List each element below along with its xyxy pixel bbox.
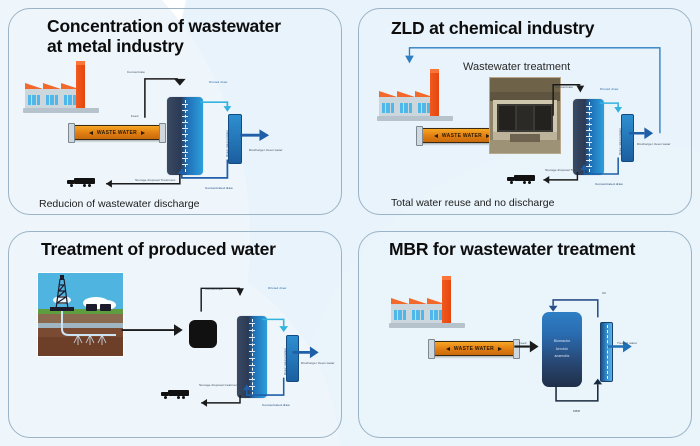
label-treated-water: Treated water — [617, 342, 637, 346]
factory-base — [389, 323, 465, 328]
forward-osmosis-membrane-module — [167, 97, 203, 175]
draw-regeneration-tank — [228, 114, 242, 164]
panel-title: Concentration of wastewater at metal ind… — [47, 17, 297, 56]
label-concentrated-draw: Concentrated draw — [262, 404, 290, 408]
bioreactor-label-1: Bioreactor — [554, 340, 570, 344]
label-discharge-clean-water: Discharge/ clean water — [301, 362, 335, 366]
label-discharge-clean-water: Discharge/ clean water — [637, 143, 671, 147]
label-concentrate: Concentrate — [127, 71, 145, 75]
tanker-truck-icon — [67, 178, 95, 187]
label-storage-disposal: Storage disposal treatment — [199, 384, 239, 388]
banner-label: WASTE WATER — [442, 133, 482, 139]
factory-building — [397, 97, 415, 116]
factory-base — [377, 116, 453, 121]
panel-title: Treatment of produced water — [41, 240, 321, 260]
panel-caption: Total water reuse and no discharge — [391, 197, 554, 209]
factory-building — [43, 89, 61, 108]
banner-label: WASTE WATER — [454, 346, 494, 352]
smokestack-icon — [442, 276, 451, 323]
panel-title: ZLD at chemical industry — [391, 19, 671, 39]
oil-rig-fracking-illustration — [37, 272, 124, 357]
photo-label: Wastewater treatment — [463, 61, 570, 73]
label-uf: UF — [602, 292, 606, 296]
label-draw-regeneration: Draw regeneration — [284, 348, 288, 375]
forward-osmosis-membrane-module — [573, 99, 604, 175]
draw-regeneration-tank — [621, 114, 634, 162]
bioreactor-label-2: Aerobic/ — [556, 348, 569, 352]
panel-concentration-metal-industry: Concentration of wastewater at metal ind… — [8, 8, 342, 215]
panel-title: MBR for wastewater treatment — [389, 240, 689, 260]
draw-regeneration-tank — [286, 335, 299, 382]
label-mbr: MBR — [573, 410, 580, 414]
label-diluted-draw: Diluted draw — [209, 81, 227, 85]
panel-caption: Reducion of wastewater discharge — [39, 198, 200, 210]
factory-icon — [377, 69, 453, 121]
flow-arrows — [359, 232, 691, 433]
bioreactor-label-3: anaerobic — [555, 355, 570, 359]
label-concentrate: Concentrate — [555, 86, 573, 90]
label-draw-regeneration: Draw regeneration — [226, 130, 230, 157]
banner-arrow-right-icon — [141, 131, 145, 135]
label-concentrated-draw: Concentrated draw — [595, 183, 623, 187]
label-feed: Feed — [519, 342, 526, 346]
figure-canvas: Concentration of wastewater at metal ind… — [0, 0, 700, 446]
tanker-truck-icon — [161, 390, 189, 399]
label-feed: Feed — [131, 115, 138, 119]
label-concentrate: Concentrate — [205, 288, 223, 292]
factory-icon — [23, 61, 99, 113]
label-concentrated-draw: Concentrated draw — [205, 187, 233, 191]
panel-grid: Concentration of wastewater at metal ind… — [0, 0, 700, 446]
label-diluted-draw: Diluted draw — [268, 287, 286, 291]
waste-water-banner: WASTE WATER — [431, 341, 517, 356]
factory-building — [25, 89, 43, 108]
wastewater-treatment-tank-photo — [489, 77, 561, 154]
ultrafiltration-membrane-module — [600, 322, 613, 382]
factory-icon — [389, 276, 465, 328]
factory-building — [409, 304, 427, 323]
panel-mbr: MBR for wastewater treatment WASTE WATER — [358, 231, 692, 438]
smokestack-icon — [430, 69, 439, 116]
smokestack-icon — [76, 61, 85, 108]
bioreactor-vessel: Bioreactor Aerobic/ anaerobic — [542, 312, 582, 387]
label-storage-disposal: Storage disposal Treatment — [545, 169, 585, 173]
banner-arrow-left-icon — [89, 131, 93, 135]
label-diluted-draw: Diluted draw — [600, 88, 618, 92]
factory-building — [379, 97, 397, 116]
factory-base — [23, 108, 99, 113]
factory-building — [391, 304, 409, 323]
tanker-truck-icon — [507, 175, 535, 184]
banner-label: WASTE WATER — [97, 130, 137, 136]
label-discharge-clean-water: Discharge/ clean water — [249, 149, 283, 153]
panel-zld-chemical-industry: ZLD at chemical industry Wastewater trea… — [358, 8, 692, 215]
pretreatment-black-box — [189, 320, 217, 348]
panel-produced-water: Treatment of produced water — [8, 231, 342, 438]
label-storage-disposal: Storage disposal Treatment — [135, 179, 175, 183]
label-draw-regeneration: Draw regeneration — [619, 128, 623, 155]
forward-osmosis-membrane-module — [237, 316, 267, 398]
waste-water-banner: WASTE WATER — [71, 125, 163, 140]
